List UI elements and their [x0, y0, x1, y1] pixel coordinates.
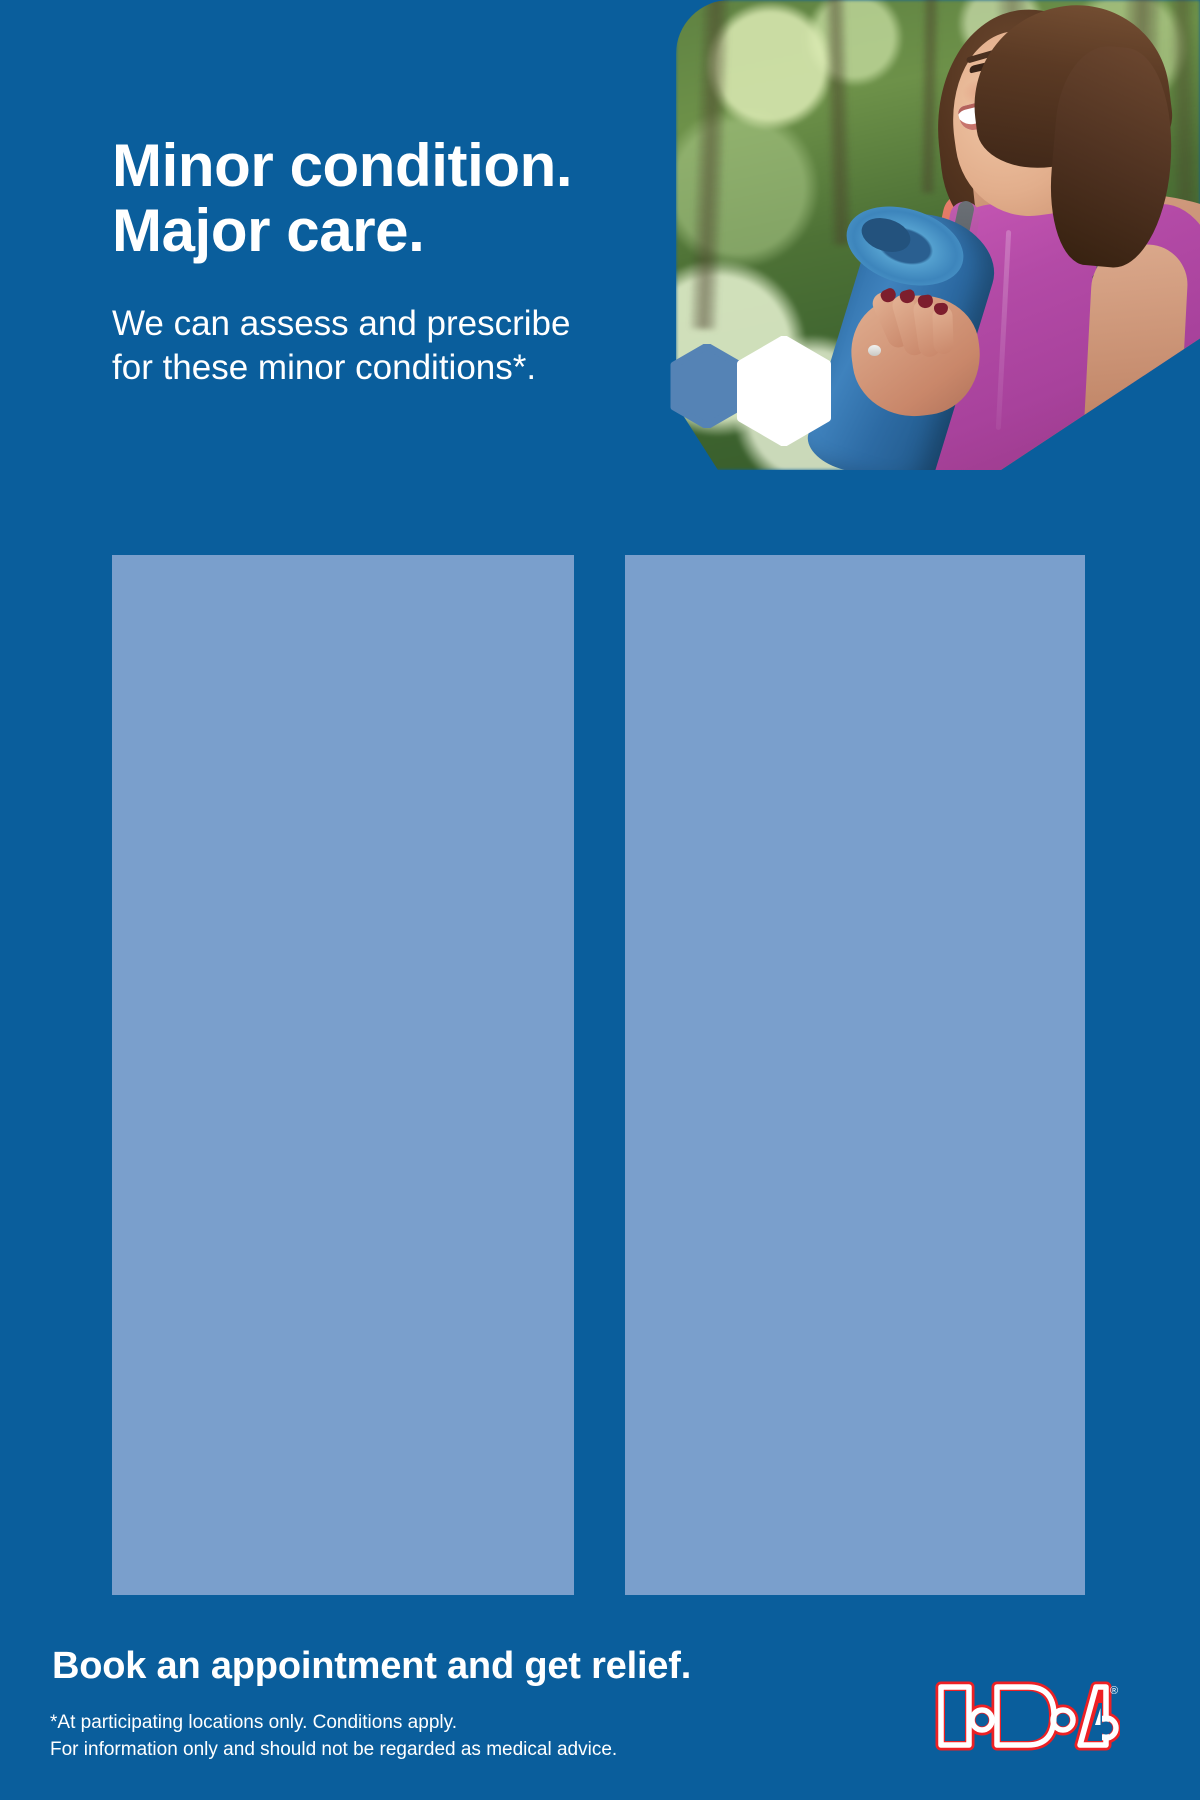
ida-logo: ®: [930, 1677, 1120, 1755]
fingernail: [934, 302, 948, 314]
page-title: Minor condition. Major care.: [112, 133, 712, 263]
cta-heading: Book an appointment and get relief.: [52, 1645, 691, 1688]
legal-line-1: *At participating locations only. Condit…: [50, 1710, 617, 1737]
registered-trademark-icon: ®: [1110, 1685, 1118, 1697]
legal-disclaimer: *At participating locations only. Condit…: [50, 1710, 617, 1764]
conditions-list-right-panel: [625, 555, 1085, 1595]
conditions-list-left-panel: [112, 555, 574, 1595]
poster-root: Minor condition. Major care. We can asse…: [0, 0, 1200, 1800]
subheading-line-1: We can assess and prescribe: [112, 302, 692, 346]
hexagon-large-icon: [736, 336, 832, 446]
subheading-line-2: for these minor conditions*.: [112, 346, 692, 390]
page-subtitle: We can assess and prescribe for these mi…: [112, 302, 692, 390]
headline-line-2: Major care.: [112, 198, 712, 263]
headline-line-1: Minor condition.: [112, 133, 712, 198]
legal-line-2: For information only and should not be r…: [50, 1737, 617, 1764]
ring: [868, 345, 881, 356]
